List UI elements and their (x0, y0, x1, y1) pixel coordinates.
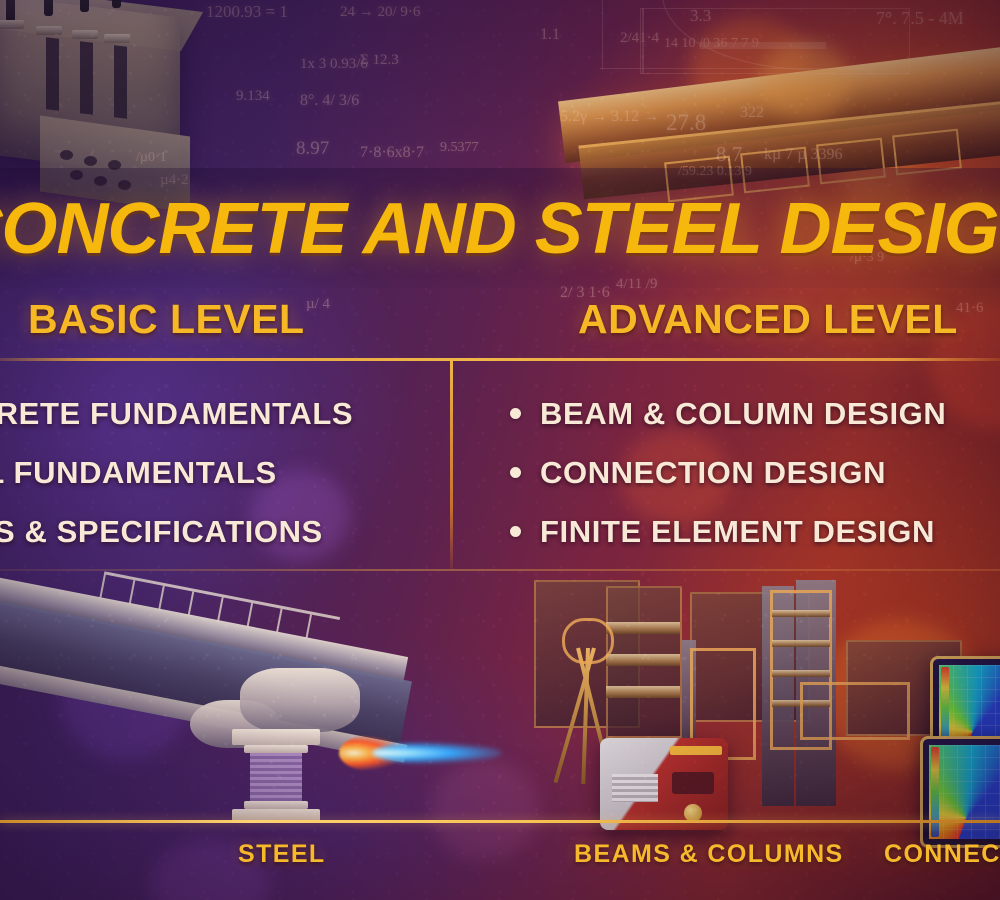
column-heading-basic: BASIC LEVEL (28, 296, 305, 343)
poster-canvas: 1200.93 = 1 24 → 20/ 9·6 1x 3 0.93/6 Σ 1… (0, 0, 1000, 900)
divider-bottom (0, 820, 1000, 823)
divider-top (0, 358, 1000, 361)
list-item-label: CONCRETE FUNDAMENTALS (0, 396, 353, 431)
bullet-dot-icon (510, 467, 521, 478)
list-item: STEEL FUNDAMENTALS (0, 457, 353, 488)
list-item: FINITE ELEMENT DESIGN (540, 516, 946, 547)
bullet-dot-icon (510, 408, 521, 419)
list-item: CONCRETE FUNDAMENTALS (0, 398, 353, 429)
caption-connections: CONNECT (884, 840, 1000, 869)
divider-vertical (450, 358, 453, 570)
level-heading-row: BASIC LEVEL ADVANCED LEVEL (0, 296, 1000, 358)
list-item-label: CODES & SPECIFICATIONS (0, 514, 323, 549)
list-item-label: STEEL FUNDAMENTALS (0, 455, 277, 490)
list-item-label: FINITE ELEMENT DESIGN (540, 514, 935, 549)
basic-level-list: CONCRETE FUNDAMENTALS STEEL FUNDAMENTALS… (0, 398, 353, 575)
list-item: BEAM & COLUMN DESIGN (540, 398, 946, 429)
caption-beams-columns: BEAMS & COLUMNS (574, 840, 844, 869)
list-item-label: BEAM & COLUMN DESIGN (540, 396, 946, 431)
list-item-label: CONNECTION DESIGN (540, 455, 886, 490)
list-item: CONNECTION DESIGN (540, 457, 946, 488)
column-heading-advanced: ADVANCED LEVEL (578, 296, 958, 343)
advanced-level-list: BEAM & COLUMN DESIGN CONNECTION DESIGN F… (540, 398, 946, 575)
divider-mid (0, 569, 1000, 571)
list-item: CODES & SPECIFICATIONS (0, 516, 353, 547)
page-title: CONCRETE AND STEEL DESIGN (0, 188, 1000, 270)
caption-steel: STEEL (238, 840, 326, 869)
bullet-dot-icon (510, 526, 521, 537)
